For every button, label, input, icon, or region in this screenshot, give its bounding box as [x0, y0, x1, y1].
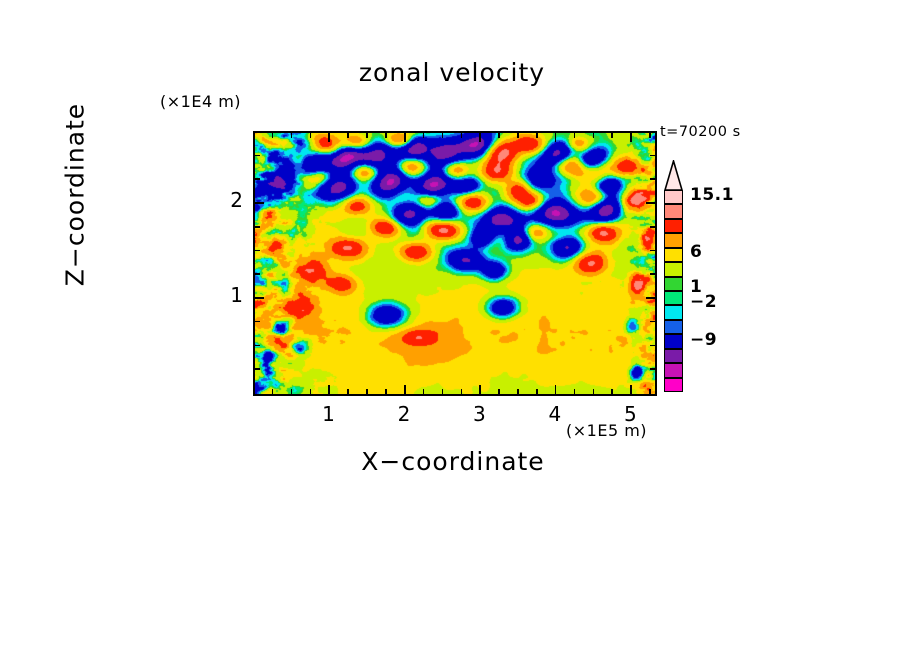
colorbar-arrow-tip	[664, 160, 683, 191]
tick-mark	[479, 385, 481, 394]
tick-mark	[423, 133, 425, 138]
colorbar-band	[664, 349, 683, 363]
tick-mark	[328, 133, 330, 142]
colorbar-label: −9	[690, 330, 717, 350]
tick-mark	[461, 133, 463, 138]
tick-mark	[555, 133, 557, 142]
velocity-field-canvas	[255, 133, 655, 394]
tick-mark	[310, 133, 312, 138]
tick-mark	[630, 385, 632, 394]
tick-mark	[255, 297, 264, 299]
tick-mark	[574, 389, 576, 394]
tick-mark	[461, 389, 463, 394]
tick-mark	[536, 389, 538, 394]
tick-mark	[517, 133, 519, 138]
tick-mark	[310, 389, 312, 394]
y-axis-unit-label: (×1E4 m)	[160, 92, 241, 111]
tick-mark	[650, 321, 655, 323]
y-axis-title: Z−coordinate	[61, 65, 90, 325]
colorbar-band	[664, 378, 683, 392]
x-tick-label: 4	[540, 402, 570, 426]
contour-plot-area	[253, 131, 657, 396]
tick-mark	[650, 250, 655, 252]
tick-mark	[385, 389, 387, 394]
tick-mark	[272, 133, 274, 138]
tick-mark	[272, 389, 274, 394]
tick-mark	[291, 389, 293, 394]
colorbar-band	[664, 219, 683, 233]
colorbar-band	[664, 277, 683, 291]
tick-mark	[630, 133, 632, 142]
tick-mark	[649, 389, 651, 394]
tick-mark	[650, 273, 655, 275]
colorbar-label: 6	[690, 242, 702, 262]
x-tick-label: 2	[389, 402, 419, 426]
tick-mark	[255, 155, 260, 157]
tick-mark	[646, 297, 655, 299]
tick-mark	[423, 389, 425, 394]
tick-mark	[255, 178, 260, 180]
tick-mark	[555, 385, 557, 394]
tick-mark	[328, 385, 330, 394]
tick-mark	[255, 250, 260, 252]
tick-mark	[404, 385, 406, 394]
colorbar-band	[664, 248, 683, 262]
tick-mark	[650, 368, 655, 370]
colorbar-label: 15.1	[690, 185, 734, 205]
tick-mark	[498, 133, 500, 138]
tick-mark	[366, 389, 368, 394]
colorbar-label: −2	[690, 292, 717, 312]
tick-mark	[650, 345, 655, 347]
colorbar-band	[664, 334, 683, 348]
tick-mark	[593, 389, 595, 394]
tick-mark	[611, 133, 613, 138]
colorbar-band	[664, 291, 683, 305]
tick-mark	[255, 202, 264, 204]
x-tick-label: 3	[464, 402, 494, 426]
tick-mark	[498, 389, 500, 394]
tick-mark	[255, 273, 260, 275]
colorbar-band	[664, 190, 683, 204]
tick-mark	[366, 133, 368, 138]
colorbar-band	[664, 363, 683, 377]
tick-mark	[291, 133, 293, 138]
tick-mark	[255, 345, 260, 347]
tick-mark	[442, 133, 444, 138]
tick-mark	[646, 202, 655, 204]
tick-mark	[649, 133, 651, 138]
colorbar	[664, 190, 683, 392]
tick-mark	[404, 133, 406, 142]
tick-mark	[650, 226, 655, 228]
tick-mark	[255, 226, 260, 228]
tick-mark	[593, 133, 595, 138]
y-tick-label: 1	[213, 283, 243, 307]
colorbar-band	[664, 233, 683, 247]
y-tick-label: 2	[213, 188, 243, 212]
tick-mark	[479, 133, 481, 142]
tick-mark	[255, 321, 260, 323]
colorbar-band	[664, 204, 683, 218]
tick-mark	[255, 368, 260, 370]
colorbar-band	[664, 305, 683, 319]
tick-mark	[536, 133, 538, 138]
colorbar-band	[664, 262, 683, 276]
x-tick-label: 5	[615, 402, 645, 426]
tick-mark	[347, 133, 349, 138]
page-title: zonal velocity	[0, 58, 904, 87]
tick-mark	[347, 389, 349, 394]
x-axis-title: X−coordinate	[253, 447, 653, 476]
tick-mark	[442, 389, 444, 394]
tick-mark	[650, 155, 655, 157]
colorbar-band	[664, 320, 683, 334]
tick-mark	[650, 178, 655, 180]
tick-mark	[611, 389, 613, 394]
tick-mark	[385, 133, 387, 138]
time-annotation: t=70200 s	[660, 124, 741, 140]
tick-mark	[574, 133, 576, 138]
x-tick-label: 1	[313, 402, 343, 426]
tick-mark	[517, 389, 519, 394]
